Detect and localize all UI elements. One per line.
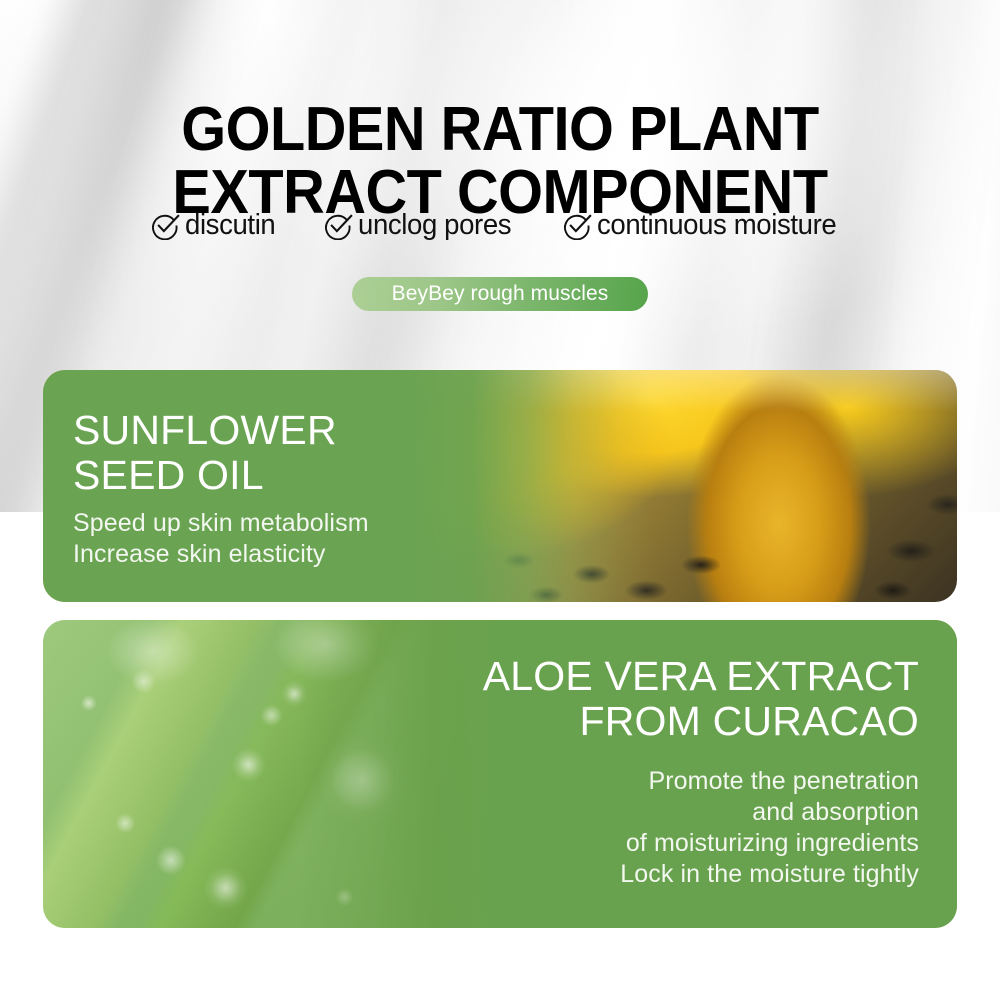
check-circle-icon — [324, 211, 353, 240]
card-title: ALOE VERA EXTRACT FROM CURACAO — [483, 654, 919, 744]
ingredient-card-sunflower: SUNFLOWER SEED OIL Speed up skin metabol… — [43, 370, 957, 602]
feature-label: discutin — [185, 209, 275, 242]
card-text-block: SUNFLOWER SEED OIL Speed up skin metabol… — [73, 408, 369, 570]
feature-item-discutin: discutin — [151, 209, 280, 242]
brand-badge: BeyBey rough muscles — [352, 277, 648, 311]
feature-item-continuous-moisture: continuous moisture — [563, 209, 849, 242]
feature-label: continuous moisture — [597, 209, 836, 242]
feature-list: discutin unclog pores continuous moistur… — [0, 209, 1000, 242]
card-text-block: ALOE VERA EXTRACT FROM CURACAO Promote t… — [483, 654, 919, 890]
check-circle-icon — [151, 211, 180, 240]
card-body: Promote the penetration and absorption o… — [483, 766, 919, 890]
feature-item-unclog-pores: unclog pores — [324, 209, 519, 242]
page-title: GOLDEN RATIO PLANT EXTRACT COMPONENT — [35, 98, 965, 224]
ingredient-card-aloe: ALOE VERA EXTRACT FROM CURACAO Promote t… — [43, 620, 957, 928]
feature-label: unclog pores — [358, 209, 511, 242]
card-body: Speed up skin metabolism Increase skin e… — [73, 508, 369, 570]
check-circle-icon — [563, 211, 592, 240]
card-title: SUNFLOWER SEED OIL — [73, 408, 369, 498]
